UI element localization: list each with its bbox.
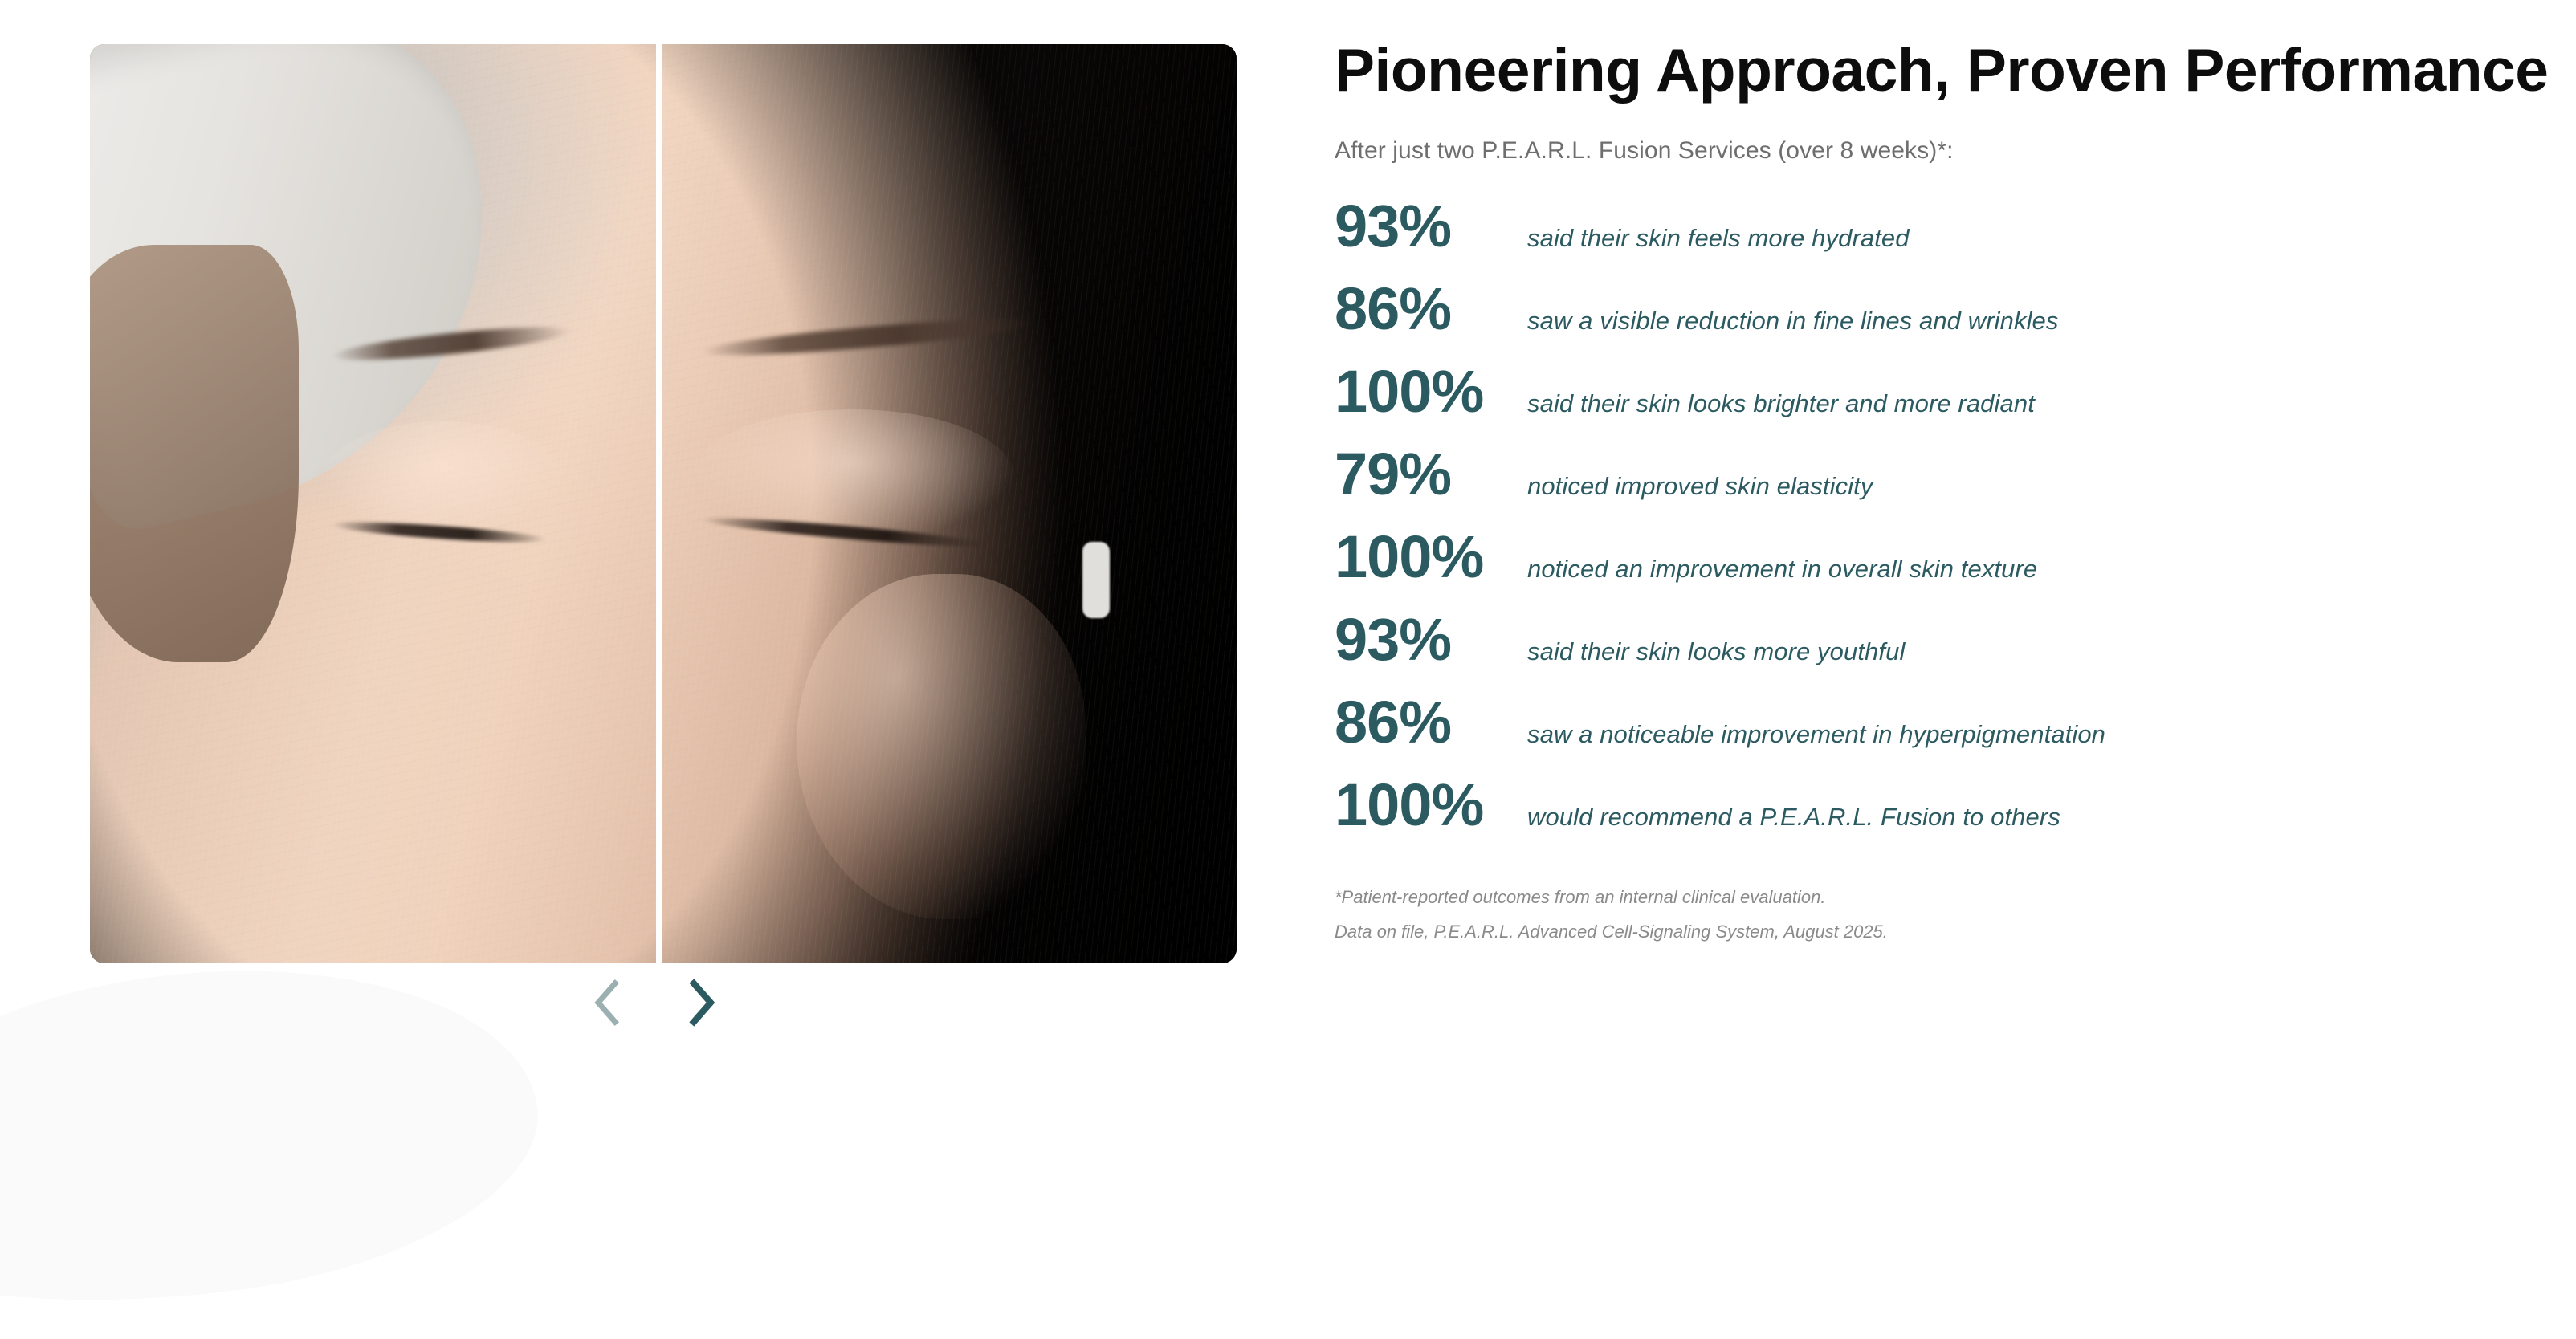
carousel-next-button[interactable] [678, 979, 724, 1026]
stat-row: 79% noticed improved skin elasticity [1335, 445, 2523, 527]
stat-row: 93% said their skin feels more hydrated [1335, 197, 2523, 279]
stat-percent: 86% [1335, 279, 1527, 339]
stat-row: 86% saw a visible reduction in fine line… [1335, 279, 2523, 362]
before-after-divider [656, 44, 662, 963]
stat-percent: 93% [1335, 197, 1527, 256]
stat-row: 100% said their skin looks brighter and … [1335, 362, 2523, 445]
stat-row: 93% said their skin looks more youthful [1335, 610, 2523, 693]
stat-description: saw a visible reduction in fine lines an… [1527, 308, 2059, 333]
stats-list: 93% said their skin feels more hydrated … [1335, 197, 2523, 858]
nose [797, 574, 1086, 919]
before-after-carousel [90, 44, 1237, 1026]
stat-description: said their skin looks brighter and more … [1527, 391, 2035, 416]
stat-description: said their skin looks more youthful [1527, 639, 1905, 664]
footnote-line: Data on file, P.E.A.R.L. Advanced Cell-S… [1335, 915, 2523, 950]
stat-percent: 93% [1335, 610, 1527, 669]
stat-row: 100% noticed an improvement in overall s… [1335, 527, 2523, 610]
footnotes: *Patient-reported outcomes from an inter… [1335, 881, 2523, 950]
results-section: Pioneering Approach, Proven Performance … [0, 0, 2576, 1068]
carousel-prev-button[interactable] [585, 979, 631, 1026]
footnote-line: *Patient-reported outcomes from an inter… [1335, 881, 2523, 915]
stat-row: 86% saw a noticeable improvement in hype… [1335, 693, 2523, 775]
stat-percent: 79% [1335, 445, 1527, 504]
chevron-right-icon [683, 979, 719, 1027]
stat-percent: 100% [1335, 362, 1527, 421]
carousel-controls [90, 979, 1237, 1026]
page-title: Pioneering Approach, Proven Performance [1335, 39, 2523, 102]
stat-percent: 100% [1335, 775, 1527, 835]
stat-description: noticed improved skin elasticity [1527, 474, 1873, 499]
chevron-left-icon [590, 979, 626, 1027]
stat-row: 100% would recommend a P.E.A.R.L. Fusion… [1335, 775, 2523, 858]
stat-description: would recommend a P.E.A.R.L. Fusion to o… [1527, 804, 2060, 829]
stat-description: noticed an improvement in overall skin t… [1527, 556, 2037, 581]
eyelid-before [323, 421, 564, 534]
stat-percent: 100% [1335, 527, 1527, 587]
stat-description: saw a noticeable improvement in hyperpig… [1527, 722, 2105, 747]
hair [90, 245, 299, 662]
stat-description: said their skin feels more hydrated [1527, 226, 1910, 250]
results-content: Pioneering Approach, Proven Performance … [1335, 0, 2523, 950]
light-highlight [1082, 542, 1110, 618]
stat-percent: 86% [1335, 693, 1527, 752]
before-after-image[interactable] [90, 44, 1237, 963]
subheading: After just two P.E.A.R.L. Fusion Service… [1335, 137, 2523, 165]
